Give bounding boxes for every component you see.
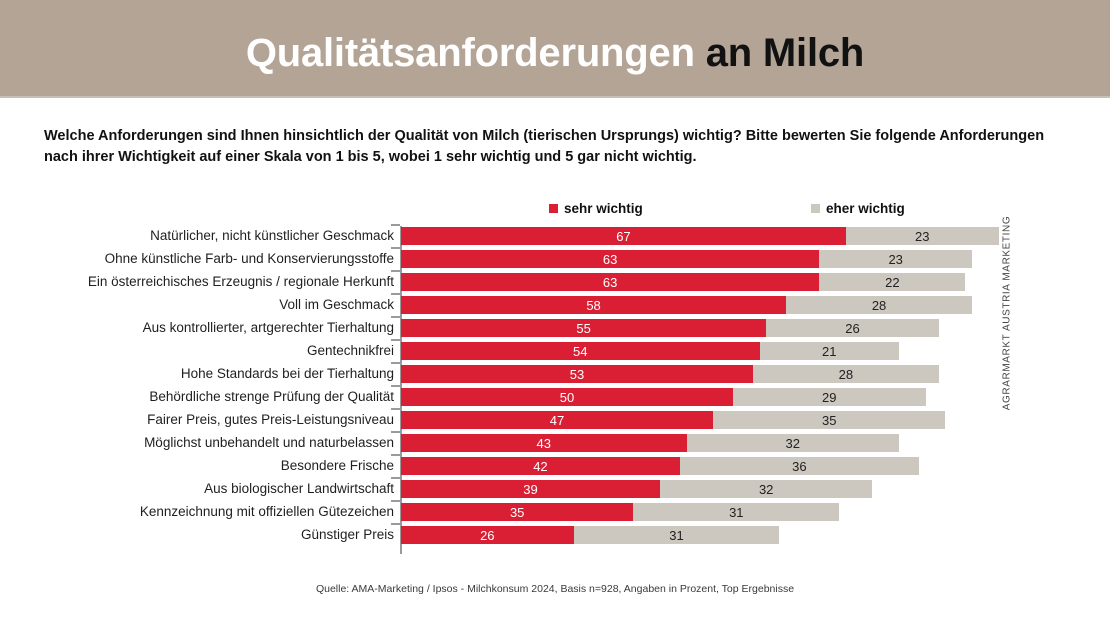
bar-segment-sehr-wichtig: 53 (401, 365, 753, 383)
bar-segment-eher-wichtig: 22 (819, 273, 965, 291)
chart-row: Kennzeichnung mit offiziellen Gütezeiche… (0, 502, 1110, 525)
bar-value-label: 53 (570, 367, 584, 382)
stacked-bar: 2631 (401, 526, 779, 544)
bar-value-label: 36 (792, 459, 806, 474)
bar-segment-sehr-wichtig: 26 (401, 526, 574, 544)
bar-value-label: 28 (872, 298, 886, 313)
bar-value-label: 26 (480, 528, 494, 543)
bar-value-label: 29 (822, 390, 836, 405)
stacked-bar: 6322 (401, 273, 965, 291)
bar-segment-sehr-wichtig: 54 (401, 342, 760, 360)
chart-row: Ohne künstliche Farb- und Konservierungs… (0, 249, 1110, 272)
bar-segment-sehr-wichtig: 67 (401, 227, 846, 245)
bar-segment-sehr-wichtig: 63 (401, 273, 819, 291)
bar-segment-sehr-wichtig: 47 (401, 411, 713, 429)
bar-segment-sehr-wichtig: 35 (401, 503, 633, 521)
stacked-bar: 6723 (401, 227, 999, 245)
axis-tick (391, 408, 400, 410)
bar-value-label: 23 (888, 252, 902, 267)
axis-tick (391, 454, 400, 456)
chart-row: Aus kontrollierter, artgerechter Tierhal… (0, 318, 1110, 341)
chart-row: Voll im Geschmack5828 (0, 295, 1110, 318)
legend-item-sehr-wichtig: sehr wichtig (549, 201, 643, 216)
bar-value-label: 28 (839, 367, 853, 382)
category-label: Hohe Standards bei der Tierhaltung (181, 366, 394, 382)
bar-segment-eher-wichtig: 26 (766, 319, 939, 337)
stacked-bar: 4735 (401, 411, 945, 429)
legend-item-eher-wichtig: eher wichtig (811, 201, 905, 216)
chart-row: Gentechnikfrei5421 (0, 341, 1110, 364)
bar-value-label: 39 (523, 482, 537, 497)
header-underline (0, 96, 1110, 98)
bar-value-label: 67 (616, 229, 630, 244)
stacked-bar: 4332 (401, 434, 899, 452)
stacked-bar: 5328 (401, 365, 939, 383)
stacked-bar: 6323 (401, 250, 972, 268)
bar-value-label: 63 (603, 252, 617, 267)
bar-value-label: 55 (576, 321, 590, 336)
bar-segment-sehr-wichtig: 63 (401, 250, 819, 268)
bar-segment-sehr-wichtig: 43 (401, 434, 687, 452)
chart-legend: sehr wichtig eher wichtig (0, 201, 1110, 219)
category-label: Möglichst unbehandelt und naturbelassen (144, 435, 394, 451)
category-label: Aus kontrollierter, artgerechter Tierhal… (143, 320, 394, 336)
axis-tick (391, 247, 400, 249)
stacked-bar-chart: Natürlicher, nicht künstlicher Geschmack… (0, 226, 1110, 556)
chart-row: Fairer Preis, gutes Preis-Leistungsnivea… (0, 410, 1110, 433)
axis-tick (391, 293, 400, 295)
axis-tick (391, 385, 400, 387)
axis-tick (391, 339, 400, 341)
bar-segment-eher-wichtig: 21 (760, 342, 899, 360)
bar-value-label: 35 (822, 413, 836, 428)
bar-segment-eher-wichtig: 35 (713, 411, 945, 429)
bar-segment-sehr-wichtig: 50 (401, 388, 733, 406)
category-label: Kennzeichnung mit offiziellen Gütezeiche… (140, 504, 394, 520)
bar-value-label: 31 (669, 528, 683, 543)
bar-segment-eher-wichtig: 36 (680, 457, 919, 475)
page-title: Qualitätsanforderungen an Milch (0, 33, 1110, 73)
category-label: Voll im Geschmack (279, 297, 394, 313)
page-title-suffix: an Milch (695, 31, 864, 75)
bar-segment-eher-wichtig: 32 (660, 480, 872, 498)
bar-value-label: 54 (573, 344, 587, 359)
chart-row: Aus biologischer Landwirtschaft3932 (0, 479, 1110, 502)
legend-label: sehr wichtig (564, 201, 643, 216)
axis-tick (391, 316, 400, 318)
bar-value-label: 63 (603, 275, 617, 290)
bar-value-label: 32 (759, 482, 773, 497)
bar-segment-sehr-wichtig: 42 (401, 457, 680, 475)
bar-segment-eher-wichtig: 23 (846, 227, 999, 245)
bar-segment-eher-wichtig: 23 (819, 250, 972, 268)
bar-segment-sehr-wichtig: 55 (401, 319, 766, 337)
chart-row: Günstiger Preis2631 (0, 525, 1110, 548)
legend-label: eher wichtig (826, 201, 905, 216)
chart-row: Natürlicher, nicht künstlicher Geschmack… (0, 226, 1110, 249)
bar-segment-eher-wichtig: 31 (633, 503, 839, 521)
axis-tick (391, 523, 400, 525)
bar-value-label: 23 (915, 229, 929, 244)
stacked-bar: 5421 (401, 342, 899, 360)
survey-question: Welche Anforderungen sind Ihnen hinsicht… (44, 126, 1059, 168)
stacked-bar: 3932 (401, 480, 872, 498)
bar-value-label: 58 (586, 298, 600, 313)
bar-value-label: 22 (885, 275, 899, 290)
bar-value-label: 26 (845, 321, 859, 336)
bar-value-label: 31 (729, 505, 743, 520)
chart-row: Besondere Frische4236 (0, 456, 1110, 479)
bar-value-label: 35 (510, 505, 524, 520)
axis-tick (391, 431, 400, 433)
category-label: Aus biologischer Landwirtschaft (204, 481, 394, 497)
stacked-bar: 3531 (401, 503, 839, 521)
bar-segment-eher-wichtig: 29 (733, 388, 926, 406)
axis-tick (391, 477, 400, 479)
axis-tick (391, 500, 400, 502)
bar-segment-sehr-wichtig: 58 (401, 296, 786, 314)
bar-value-label: 43 (537, 436, 551, 451)
chart-row: Hohe Standards bei der Tierhaltung5328 (0, 364, 1110, 387)
bar-segment-sehr-wichtig: 39 (401, 480, 660, 498)
bar-segment-eher-wichtig: 28 (753, 365, 939, 383)
bar-segment-eher-wichtig: 31 (574, 526, 780, 544)
bar-segment-eher-wichtig: 32 (687, 434, 899, 452)
chart-rows: Natürlicher, nicht künstlicher Geschmack… (0, 226, 1110, 548)
category-label: Natürlicher, nicht künstlicher Geschmack (150, 228, 394, 244)
bar-value-label: 32 (786, 436, 800, 451)
chart-row: Ein österreichisches Erzeugnis / regiona… (0, 272, 1110, 295)
category-label: Günstiger Preis (301, 527, 394, 543)
stacked-bar: 4236 (401, 457, 919, 475)
axis-tick (391, 224, 400, 226)
source-note: Quelle: AMA-Marketing / Ipsos - Milchkon… (0, 583, 1110, 595)
legend-swatch-icon (811, 204, 820, 213)
chart-row: Behördliche strenge Prüfung der Qualität… (0, 387, 1110, 410)
page-title-highlight: Qualitätsanforderungen (246, 31, 695, 75)
chart-row: Möglichst unbehandelt und naturbelassen4… (0, 433, 1110, 456)
category-label: Ohne künstliche Farb- und Konservierungs… (105, 251, 394, 267)
category-label: Fairer Preis, gutes Preis-Leistungsnivea… (147, 412, 394, 428)
axis-tick (391, 270, 400, 272)
bar-value-label: 42 (533, 459, 547, 474)
category-label: Behördliche strenge Prüfung der Qualität (149, 389, 394, 405)
brand-vertical-label: AGRARMARKT AUSTRIA MARKETING (1001, 215, 1012, 409)
category-label: Besondere Frische (281, 458, 394, 474)
legend-swatch-icon (549, 204, 558, 213)
bar-segment-eher-wichtig: 28 (786, 296, 972, 314)
category-label: Ein österreichisches Erzeugnis / regiona… (88, 274, 394, 290)
stacked-bar: 5828 (401, 296, 972, 314)
category-label: Gentechnikfrei (307, 343, 394, 359)
axis-tick (391, 362, 400, 364)
bar-value-label: 47 (550, 413, 564, 428)
bar-value-label: 21 (822, 344, 836, 359)
stacked-bar: 5526 (401, 319, 939, 337)
stacked-bar: 5029 (401, 388, 926, 406)
bar-value-label: 50 (560, 390, 574, 405)
